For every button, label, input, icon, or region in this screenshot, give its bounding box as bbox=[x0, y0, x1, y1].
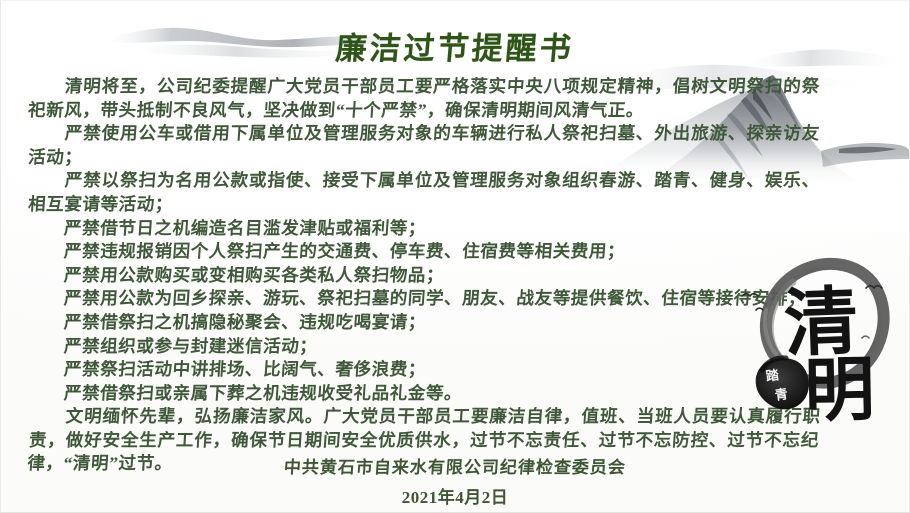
notice-paragraph: 严禁违规报销因个人祭扫产生的交通费、停车费、住宿费等相关费用； bbox=[28, 240, 820, 264]
issuing-organization: 中共黄石市自来水有限公司纪律检查委员会 bbox=[283, 453, 627, 478]
notice-paragraph: 严禁以祭扫为名用公款或指使、接受下属单位及管理服务对象组织春游、踏青、健身、娱乐… bbox=[27, 169, 820, 216]
document-footer: 中共黄石市自来水有限公司纪律检查委员会 2021年4月2日 bbox=[1, 453, 909, 508]
notice-paragraph: 严禁借节日之机编造名目滥发津贴或福利等； bbox=[28, 217, 820, 241]
notice-paragraph: 严禁用公款购买或变相购买各类私人祭扫物品； bbox=[28, 264, 820, 288]
issue-date: 2021年4月2日 bbox=[1, 483, 909, 508]
notice-paragraph: 严禁使用公车或借用下属单位及管理服务对象的车辆进行私人祭祀扫墓、外出旅游、探亲访… bbox=[27, 122, 820, 169]
notice-paragraph: 清明将至，公司纪委提醒广大党员干部员工要严格落实中央八项规定精神，倡树文明祭扫的… bbox=[27, 75, 820, 122]
notice-paragraph: 严禁借祭扫之机搞隐秘聚会、违规吃喝宴请； bbox=[28, 311, 820, 335]
qingming-integrity-notice-poster: 廉洁过节提醒书 清明将至，公司纪委提醒广大党员干部员工要严格落实中央八项规定精神… bbox=[0, 0, 910, 513]
notice-body: 清明将至，公司纪委提醒广大党员干部员工要严格落实中央八项规定精神，倡树文明祭扫的… bbox=[29, 75, 819, 476]
poster-title: 廉洁过节提醒书 bbox=[1, 23, 909, 68]
notice-paragraph: 严禁用公款为回乡探亲、游玩、祭祀扫墓的同学、朋友、战友等提供餐饮、住宿等接待安排… bbox=[28, 287, 820, 311]
notice-paragraph: 严禁借祭扫或亲属下葬之机违规收受礼品礼金等。 bbox=[28, 382, 820, 406]
poster-title-text: 廉洁过节提醒书 bbox=[334, 23, 576, 68]
notice-paragraph: 严禁祭扫活动中讲排场、比阔气、奢侈浪费； bbox=[28, 358, 820, 382]
notice-paragraph: 严禁组织或参与封建迷信活动； bbox=[28, 335, 820, 359]
